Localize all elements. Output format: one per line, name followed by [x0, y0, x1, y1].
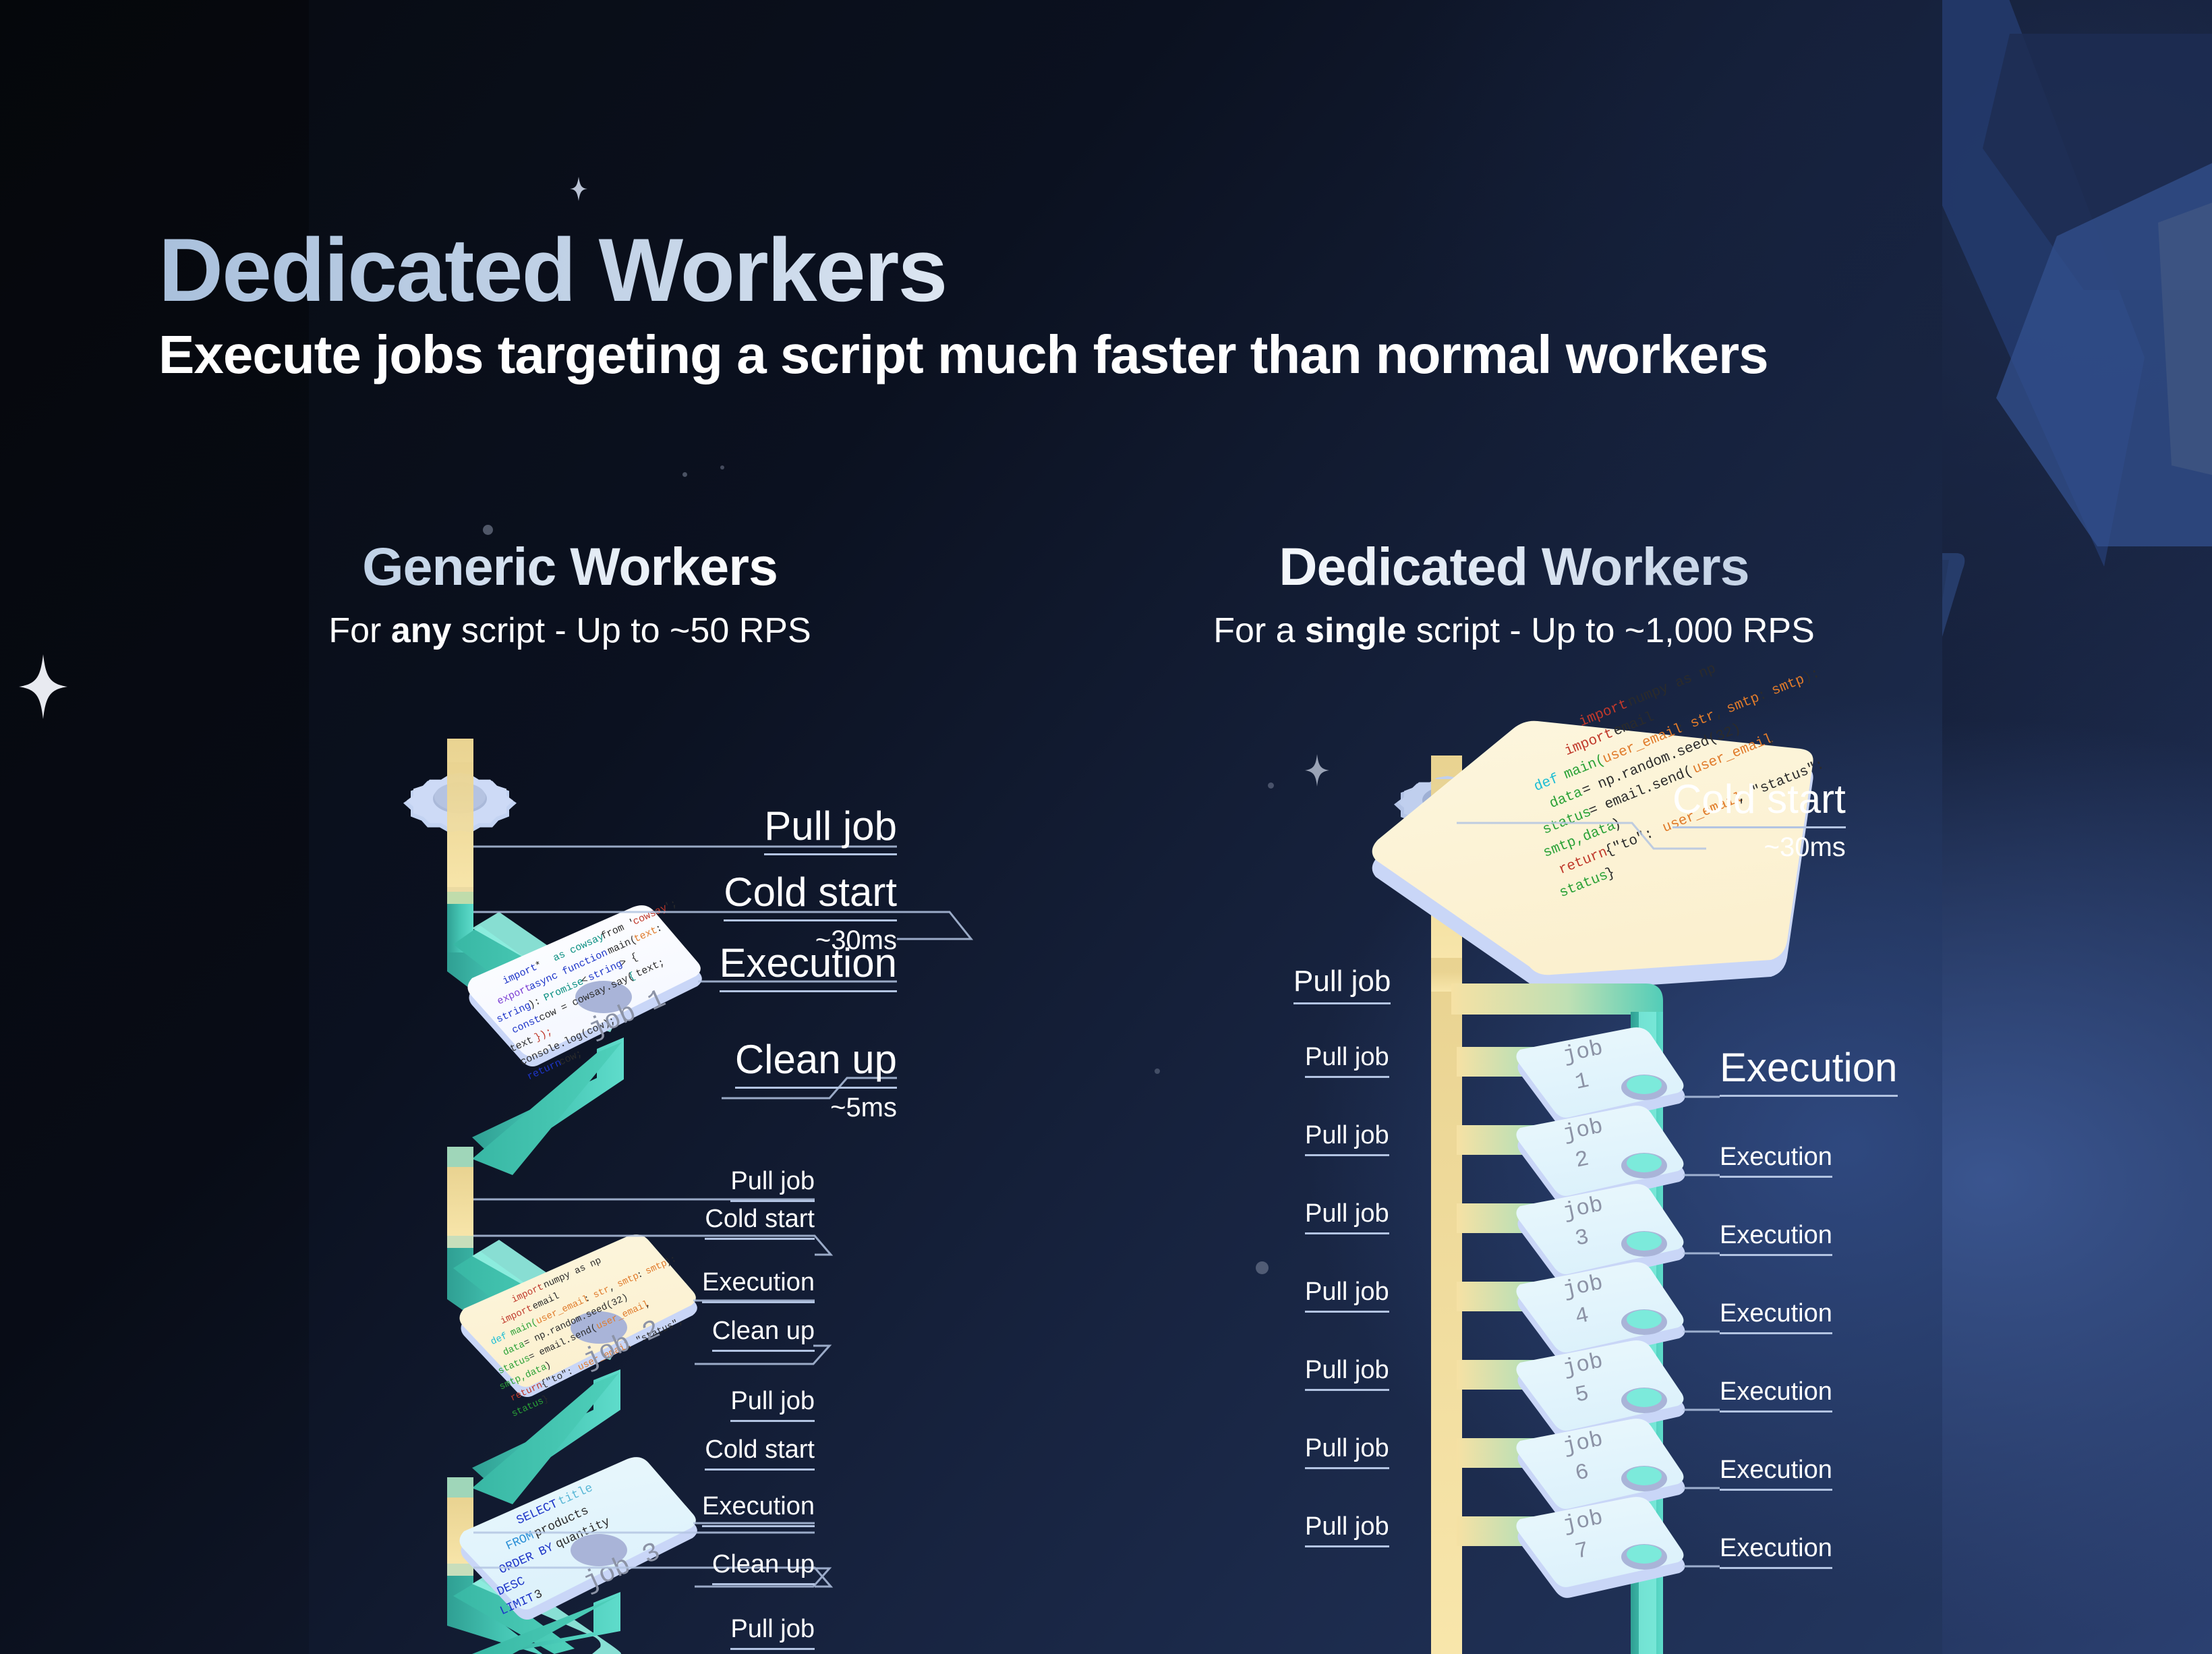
- label-execution-1: Execution: [627, 940, 897, 992]
- generic-workers-subtitle: For any script - Up to ~50 RPS: [223, 610, 917, 651]
- label-pull-job-3: Pull job: [612, 1387, 815, 1422]
- label-pull-job-row-1: Pull job: [1305, 1043, 1389, 1078]
- label-pull-job-row-5: Pull job: [1305, 1356, 1389, 1391]
- sparkle-icon: [19, 654, 67, 719]
- label-clean-up-1: Clean up ~5ms: [627, 1036, 897, 1123]
- dedicated-workers-title: Dedicated Workers: [1167, 540, 1861, 593]
- label-execution-row-7: Execution: [1720, 1534, 1832, 1569]
- label-pull-job-row-3: Pull job: [1305, 1199, 1389, 1234]
- dedicated-workers-subtitle: For a single script - Up to ~1,000 RPS: [1167, 610, 1861, 651]
- column-header-generic: Generic Workers For any script - Up to ~…: [223, 540, 917, 651]
- column-header-dedicated: Dedicated Workers For a single script - …: [1167, 540, 1861, 651]
- label-cold-start-dedicated: Cold start ~30ms: [1672, 776, 1846, 863]
- page-subtitle: Execute jobs targeting a script much fas…: [158, 328, 1979, 382]
- label-pull-job-row-2: Pull job: [1305, 1121, 1389, 1156]
- page-title: Dedicated Workers: [158, 226, 1979, 316]
- label-execution-row-5: Execution: [1720, 1377, 1832, 1413]
- label-execution-row-4: Execution: [1720, 1299, 1832, 1334]
- label-execution-row-6: Execution: [1720, 1456, 1832, 1491]
- label-pull-job-dedicated-main: Pull job: [1293, 965, 1391, 1004]
- label-pull-job-2: Pull job: [612, 1167, 815, 1202]
- label-cold-start-2: Cold start: [612, 1205, 815, 1240]
- label-cold-start-3: Cold start: [612, 1435, 815, 1471]
- label-pull-job-row-4: Pull job: [1305, 1278, 1389, 1313]
- label-execution-row-3: Execution: [1720, 1221, 1832, 1256]
- label-pull-job-row-7: Pull job: [1305, 1512, 1389, 1547]
- label-execution-dedicated-main: Execution: [1720, 1044, 1898, 1097]
- label-execution-row-2: Execution: [1720, 1143, 1832, 1178]
- page-header: Dedicated Workers Execute jobs targeting…: [158, 226, 1979, 382]
- label-pull-job-4: Pull job: [612, 1615, 815, 1650]
- generic-workers-title: Generic Workers: [223, 540, 917, 593]
- label-clean-up-3: Clean up: [612, 1550, 815, 1585]
- label-execution-2: Execution: [612, 1268, 815, 1303]
- label-clean-up-2: Clean up: [612, 1317, 815, 1352]
- label-execution-3: Execution: [612, 1492, 815, 1527]
- label-pull-job-1: Pull job: [627, 803, 897, 855]
- label-pull-job-row-6: Pull job: [1305, 1434, 1389, 1469]
